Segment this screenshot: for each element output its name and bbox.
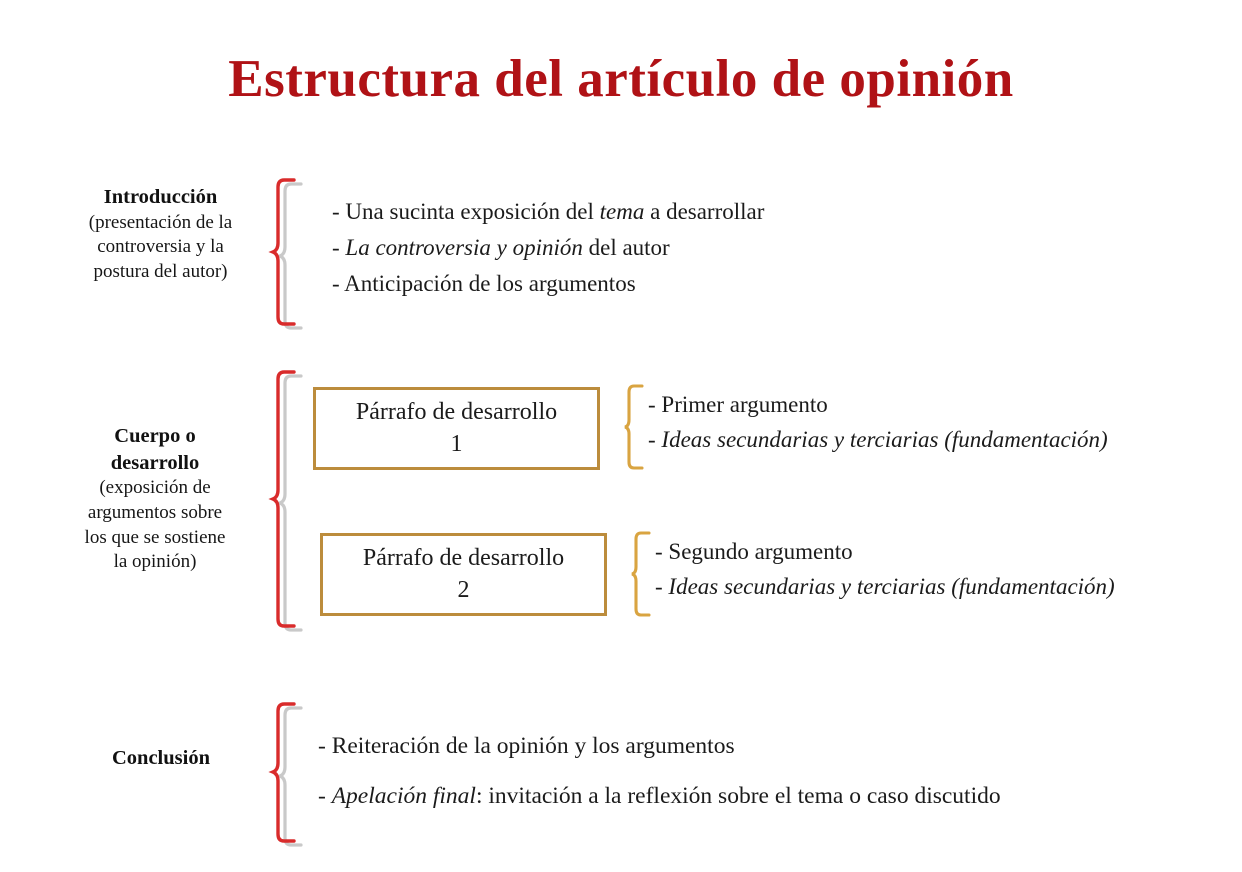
conclusion-items: - Reiteración de la opinión y los argume… [318,735,1001,808]
section-subtitle-line-2: argumentos sobre [36,501,274,526]
section-subtitle-line-3: postura del autor) [48,260,273,285]
section-heading-introduccion: Introducción [48,184,273,211]
paragraph-box-1-label: Párrafo de desarrollo [356,397,557,428]
section-heading-cuerpo-line-2: desarrollo [36,450,274,477]
section-label-introduccion: Introducción (presentación de la controv… [48,184,273,285]
paragraph-box-2-label: Párrafo de desarrollo [363,543,564,574]
list-item: - Una sucinta exposición del tema a desa… [332,200,764,223]
list-item: - Reiteración de la opinión y los argume… [318,735,1001,759]
section-subtitle-line-1: (presentación de la [48,211,273,236]
argumento-1-items: - Primer argumento - Ideas secundarias y… [648,393,1108,451]
list-item: - Ideas secundarias y terciarias (fundam… [655,575,1115,598]
list-item: - Segundo argumento [655,540,1115,563]
brace-introduccion-icon [272,176,322,328]
section-subtitle-line-3: los que se sostiene [36,526,274,551]
section-subtitle-line-1: (exposición de [36,476,274,501]
paragraph-box-2-number: 2 [458,575,470,606]
list-item: - Ideas secundarias y terciarias (fundam… [648,428,1108,451]
section-heading-cuerpo-line-1: Cuerpo o [36,423,274,450]
section-subtitle-line-2: controversia y la [48,235,273,260]
slide-canvas: Estructura del artículo de opinión Intro… [0,0,1242,872]
paragraph-box-2[interactable]: Párrafo de desarrollo 2 [320,533,607,616]
section-label-conclusion: Conclusión [50,745,272,772]
introduccion-items: - Una sucinta exposición del tema a desa… [332,200,764,308]
section-heading-conclusion: Conclusión [50,745,272,772]
paragraph-box-1[interactable]: Párrafo de desarrollo 1 [313,387,600,470]
list-item: - La controversia y opinión del autor [332,236,764,259]
section-subtitle-line-4: la opinión) [36,550,274,575]
section-label-cuerpo: Cuerpo o desarrollo (exposición de argum… [36,423,274,575]
list-item: - Apelación final: invitación a la refle… [318,785,1001,809]
page-title: Estructura del artículo de opinión [0,52,1242,108]
paragraph-box-1-number: 1 [451,429,463,460]
brace-conclusion-icon [272,700,322,845]
argumento-2-items: - Segundo argumento - Ideas secundarias … [655,540,1115,598]
list-item: - Primer argumento [648,393,1108,416]
list-item: - Anticipación de los argumentos [332,272,764,295]
